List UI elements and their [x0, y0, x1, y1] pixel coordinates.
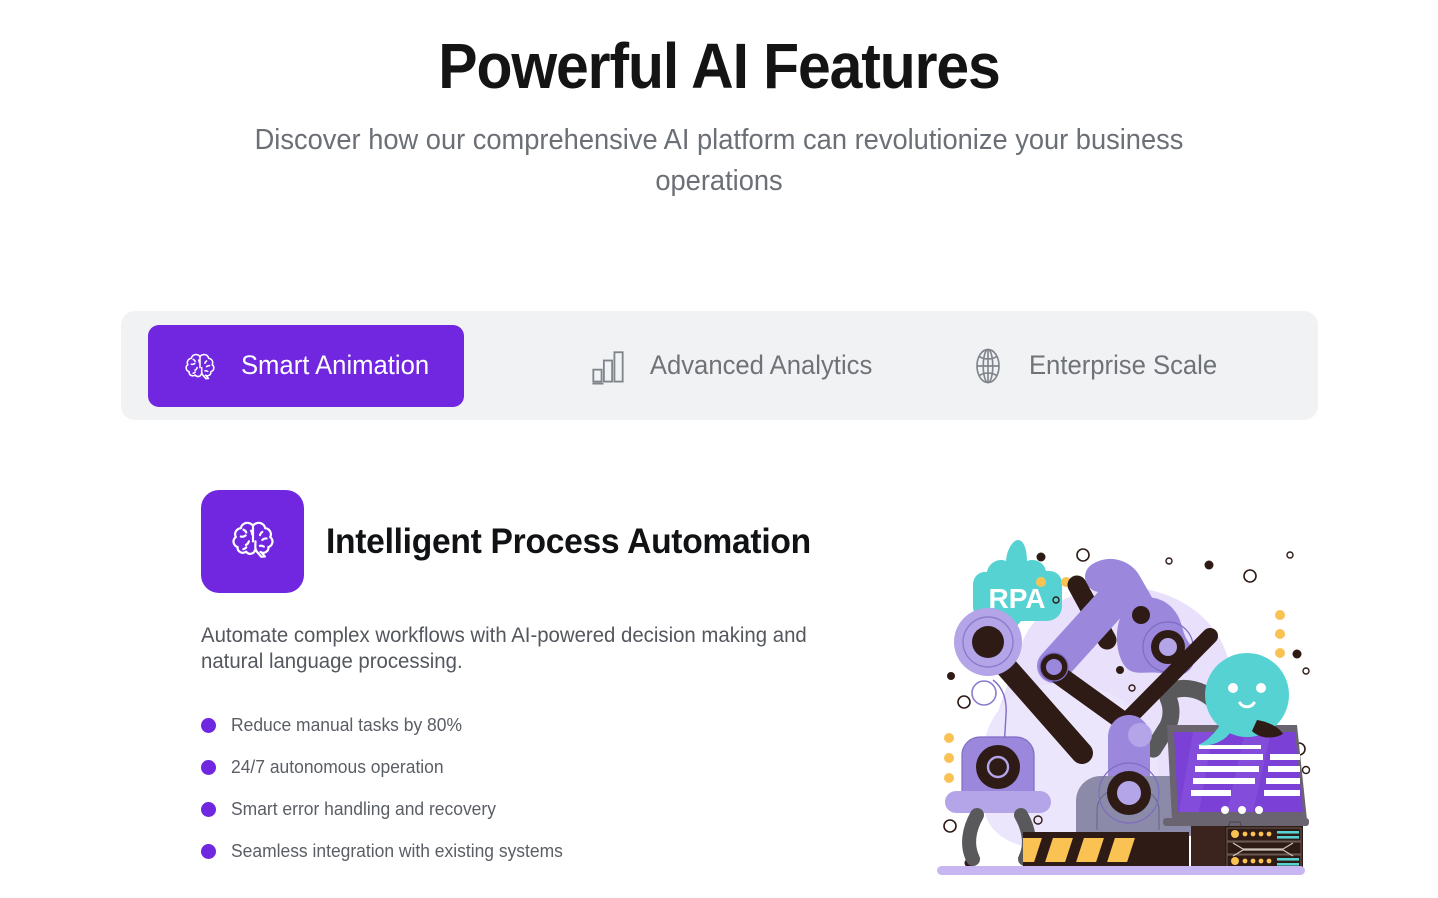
feature-title: Intelligent Process Automation — [326, 522, 811, 562]
feature-tab-bar: Smart Animation Advanced Analytics Enter — [121, 311, 1318, 420]
brain-icon — [222, 508, 284, 575]
tab-label: Smart Animation — [241, 350, 429, 381]
tab-smart-animation[interactable]: Smart Animation — [148, 325, 464, 407]
feature-content: Intelligent Process Automation Automate … — [201, 490, 881, 872]
tab-label: Advanced Analytics — [650, 350, 872, 381]
benefit-label: 24/7 autonomous operation — [231, 757, 444, 778]
benefit-label: Seamless integration with existing syste… — [231, 841, 563, 862]
list-item: Seamless integration with existing syste… — [201, 830, 881, 872]
tab-label: Enterprise Scale — [1029, 350, 1217, 381]
feature-header: Intelligent Process Automation — [201, 490, 881, 593]
server-rack — [1191, 826, 1303, 868]
benefit-label: Smart error handling and recovery — [231, 799, 496, 820]
feature-panel: Intelligent Process Automation Automate … — [0, 490, 1438, 898]
list-item: 24/7 autonomous operation — [201, 746, 881, 788]
feature-description: Automate complex workflows with AI-power… — [201, 593, 827, 675]
hero-header: Powerful AI Features Discover how our co… — [0, 0, 1438, 202]
globe-icon — [966, 344, 1010, 388]
list-item: Reduce manual tasks by 80% — [201, 704, 881, 746]
list-item: Smart error handling and recovery — [201, 788, 881, 830]
bullet-dot-icon — [201, 844, 216, 859]
bullet-dot-icon — [201, 760, 216, 775]
bullet-dot-icon — [201, 802, 216, 817]
brain-icon — [178, 344, 222, 388]
feature-benefits-list: Reduce manual tasks by 80% 24/7 autonomo… — [201, 675, 881, 872]
page-title: Powerful AI Features — [58, 0, 1381, 104]
bullet-dot-icon — [201, 718, 216, 733]
tab-advanced-analytics[interactable]: Advanced Analytics — [560, 325, 904, 407]
ground-bar — [937, 866, 1305, 875]
feature-brain-icon-badge — [201, 490, 304, 593]
bar-chart-icon — [586, 344, 630, 388]
benefit-label: Reduce manual tasks by 80% — [231, 715, 462, 736]
page-subtitle: Discover how our comprehensive AI platfo… — [249, 104, 1189, 202]
rpa-robot-arm-illustration: RPA — [925, 530, 1320, 875]
tab-enterprise-scale[interactable]: Enterprise Scale — [940, 325, 1248, 407]
